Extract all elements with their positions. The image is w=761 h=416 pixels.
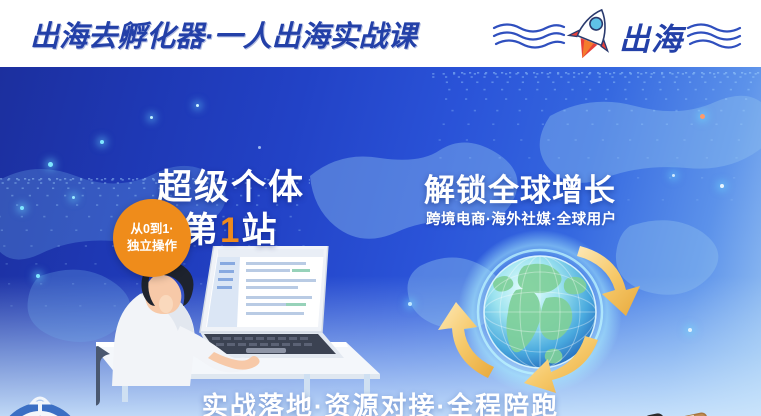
footer-tagline-main: 实战落地·资源对接·全程陪跑 <box>0 386 761 416</box>
brand-logo: 出海 <box>492 6 747 62</box>
banner-header: 出海去孵化器·一人出海实战课 <box>0 0 761 67</box>
badge-line-1: 从0到1· <box>130 221 173 238</box>
station-number: 1 <box>220 211 241 250</box>
globe-with-arrows-illustration <box>428 228 658 403</box>
hero-right-subheadline: 跨境电商·海外社媒·全球用户 <box>426 208 617 229</box>
hero-left-subheadline: 第1站 <box>183 202 279 253</box>
banner-stage: 超级个体 第1站 从0到1· 独立操作 解锁全球增长 跨境电商·海外社媒·全球用… <box>0 66 761 416</box>
badge-line-2: 独立操作 <box>127 238 177 255</box>
course-promo-banner: 出海去孵化器·一人出海实战课 <box>0 0 761 416</box>
rocket-icon <box>563 6 621 62</box>
station-suffix: 站 <box>241 211 278 250</box>
header-title: 出海去孵化器·一人出海实战课 <box>30 13 417 55</box>
logo-text: 出海 <box>619 14 683 59</box>
zero-to-one-badge: 从0到1· 独立操作 <box>113 199 191 277</box>
hero-right-headline: 解锁全球增长 <box>424 165 616 210</box>
